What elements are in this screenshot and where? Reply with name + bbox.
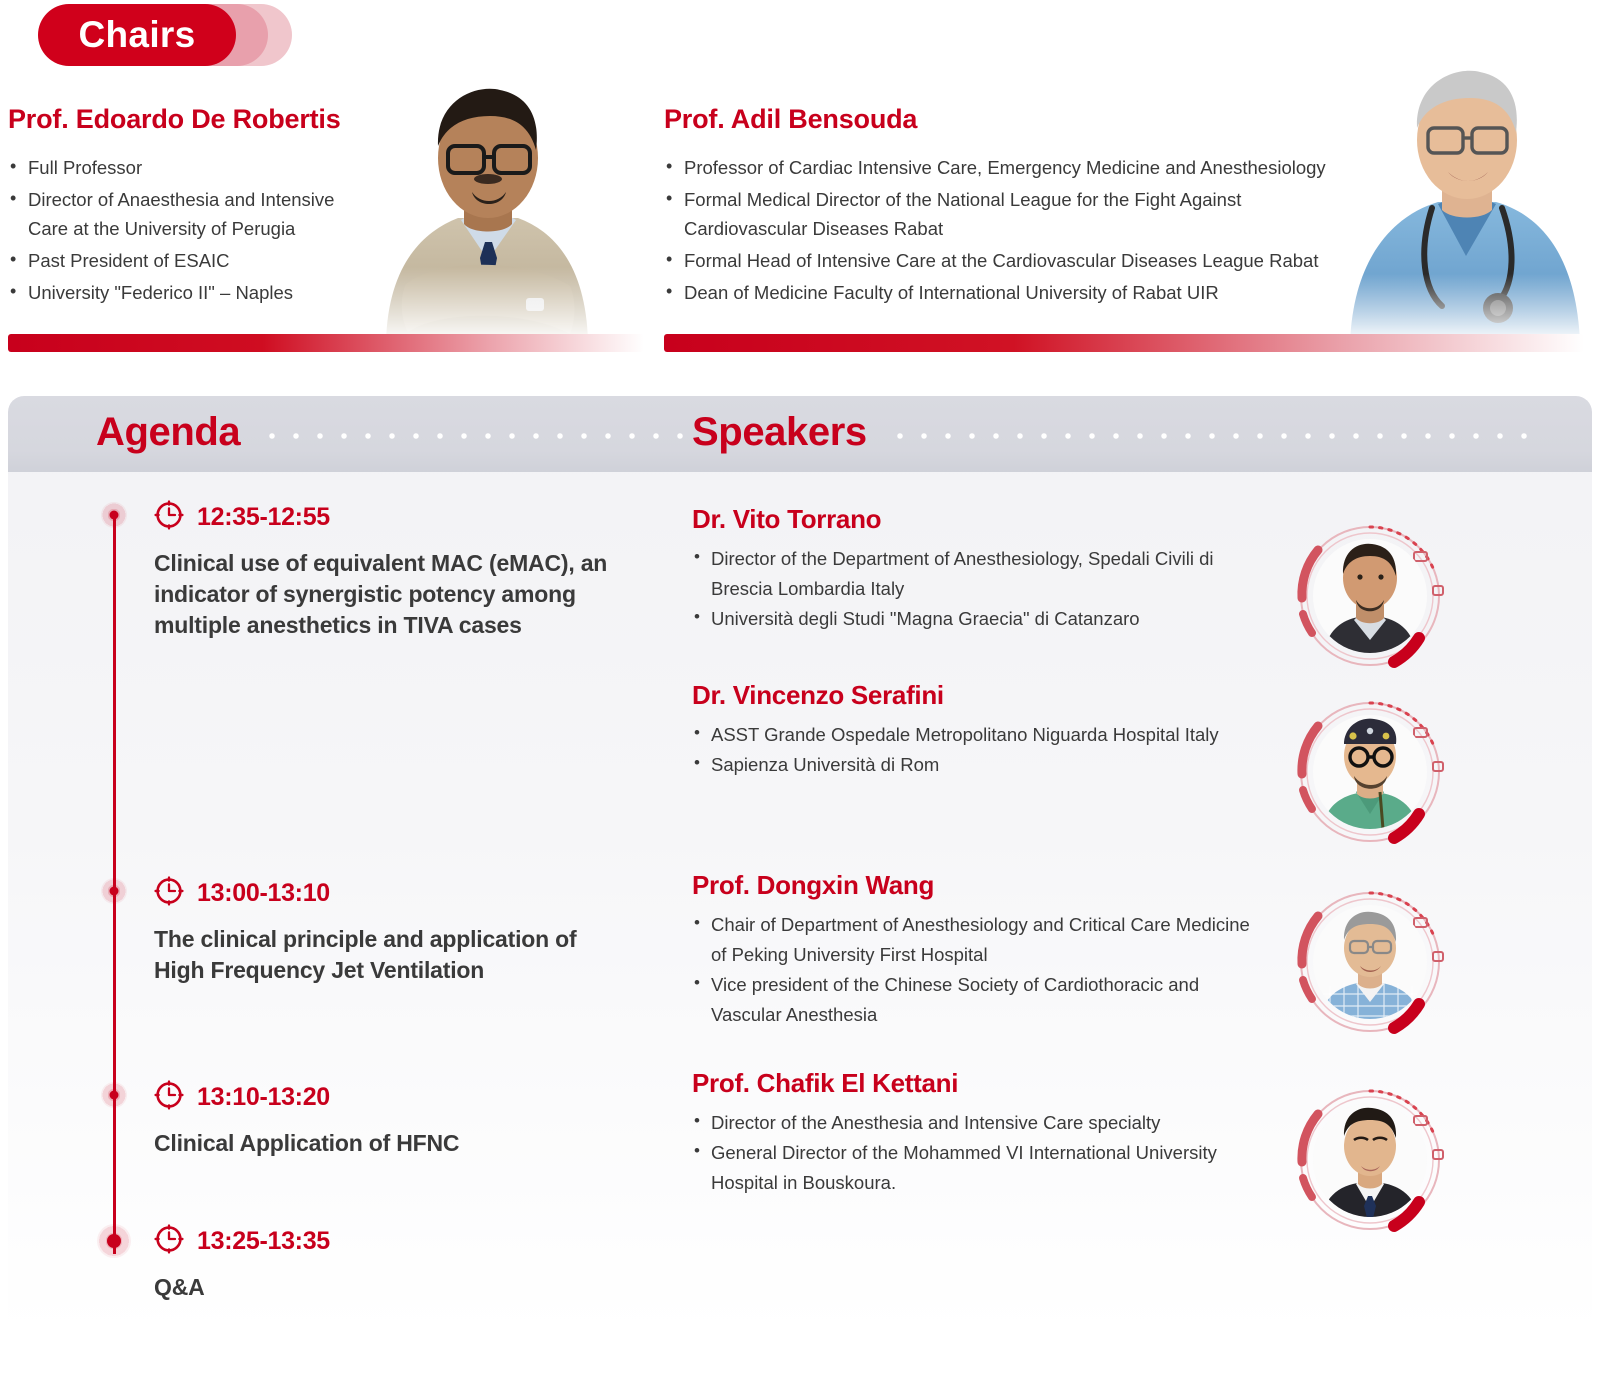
- avatar-speaker-0: [1290, 516, 1450, 676]
- agenda-speakers-panel: Agenda Speakers: [8, 396, 1592, 1336]
- timeline-node-2: [101, 1082, 127, 1108]
- speaker-bullet: Chair of Department of Anesthesiology an…: [692, 910, 1252, 970]
- agenda-title-2: Clinical Application of HFNC: [154, 1128, 624, 1159]
- chair-bullet: Formal Medical Director of the National …: [664, 185, 1364, 243]
- timeline-node-1: [101, 878, 127, 904]
- dotted-divider-speakers: [888, 433, 1538, 439]
- avatar-speaker-3: [1290, 1080, 1450, 1240]
- chair-bullet: Professor of Cardiac Intensive Care, Eme…: [664, 153, 1364, 182]
- chair-bullet: Formal Head of Intensive Care at the Car…: [664, 246, 1364, 275]
- speaker-bullet: Vice president of the Chinese Society of…: [692, 970, 1252, 1030]
- speaker-bullets-2: Chair of Department of Anesthesiology an…: [692, 910, 1252, 1030]
- speaker-name-0: Dr. Vito Torrano: [692, 504, 1252, 535]
- badge-main: Chairs: [38, 4, 236, 66]
- agenda-heading: Agenda: [96, 410, 240, 455]
- speaker-card-1[interactable]: Dr. Vincenzo Serafini ASST Grande Ospeda…: [692, 680, 1252, 780]
- portrait-chair-1: [1320, 32, 1600, 342]
- avatar-speaker-1: [1290, 692, 1450, 852]
- chair-bullets-1: Professor of Cardiac Intensive Care, Eme…: [664, 153, 1364, 307]
- agenda-time-row-1: 13:00-13:10: [154, 876, 624, 911]
- chair-name-1: Prof. Adil Bensouda: [664, 104, 1364, 135]
- clock-icon: [154, 1224, 184, 1259]
- speaker-bullet: General Director of the Mohammed VI Inte…: [692, 1138, 1252, 1198]
- chair-name-0: Prof. Edoardo De Robertis: [8, 104, 368, 135]
- speaker-card-3[interactable]: Prof. Chafik El Kettani Director of the …: [692, 1068, 1252, 1198]
- panel-header: Agenda Speakers: [8, 396, 1592, 472]
- speaker-bullet: Director of the Department of Anesthesio…: [692, 544, 1252, 604]
- speaker-bullets-3: Director of the Anesthesia and Intensive…: [692, 1108, 1252, 1198]
- chair-bullet: University "Federico II" – Naples: [8, 278, 368, 307]
- speakers-heading: Speakers: [692, 410, 867, 455]
- agenda-time-row-3: 13:25-13:35: [154, 1224, 624, 1259]
- agenda-item-1[interactable]: 13:00-13:10 The clinical principle and a…: [154, 876, 624, 986]
- speaker-bullet: Sapienza Università di Rom: [692, 750, 1252, 780]
- agenda-title-0: Clinical use of equivalent MAC (eMAC), a…: [154, 548, 624, 640]
- speaker-bullet: Director of the Anesthesia and Intensive…: [692, 1108, 1252, 1138]
- speaker-card-2[interactable]: Prof. Dongxin Wang Chair of Department o…: [692, 870, 1252, 1030]
- speaker-name-1: Dr. Vincenzo Serafini: [692, 680, 1252, 711]
- chair-bullet: Director of Anaesthesia and Intensive Ca…: [8, 185, 368, 243]
- speaker-name-2: Prof. Dongxin Wang: [692, 870, 1252, 901]
- speaker-card-0[interactable]: Dr. Vito Torrano Director of the Departm…: [692, 504, 1252, 634]
- chair-card-0: Prof. Edoardo De Robertis Full Professor…: [8, 104, 368, 310]
- speaker-name-3: Prof. Chafik El Kettani: [692, 1068, 1252, 1099]
- chair-card-1: Prof. Adil Bensouda Professor of Cardiac…: [664, 104, 1364, 310]
- clock-icon: [154, 500, 184, 535]
- clock-icon: [154, 1080, 184, 1115]
- chairs-badge: Chairs: [16, 4, 316, 66]
- speaker-bullet: Università degli Studi "Magna Graecia" d…: [692, 604, 1252, 634]
- portrait-chair-0: [330, 42, 630, 342]
- agenda-time-row-0: 12:35-12:55: [154, 500, 624, 535]
- chair-bullets-0: Full Professor Director of Anaesthesia a…: [8, 153, 368, 307]
- conference-agenda-page: Chairs Prof. Edoardo De Robertis Full Pr…: [0, 0, 1600, 1398]
- agenda-item-0[interactable]: 12:35-12:55 Clinical use of equivalent M…: [154, 500, 624, 640]
- chair-underline-1: [664, 334, 1584, 352]
- agenda-title-3: Q&A: [154, 1272, 624, 1303]
- avatar-speaker-2: [1290, 882, 1450, 1042]
- agenda-time-3: 13:25-13:35: [197, 1227, 330, 1256]
- speaker-bullet: ASST Grande Ospedale Metropolitano Nigua…: [692, 720, 1252, 750]
- agenda-time-0: 12:35-12:55: [197, 503, 330, 532]
- chairs-badge-label: Chairs: [79, 14, 196, 56]
- agenda-item-3[interactable]: 13:25-13:35 Q&A: [154, 1224, 624, 1303]
- agenda-time-1: 13:00-13:10: [197, 879, 330, 908]
- chair-bullet: Past President of ESAIC: [8, 246, 368, 275]
- agenda-item-2[interactable]: 13:10-13:20 Clinical Application of HFNC: [154, 1080, 624, 1159]
- timeline-node-3: [97, 1224, 131, 1258]
- agenda-time-row-2: 13:10-13:20: [154, 1080, 624, 1115]
- chair-bullet: Full Professor: [8, 153, 368, 182]
- speaker-bullets-0: Director of the Department of Anesthesio…: [692, 544, 1252, 634]
- dotted-divider-agenda: [260, 433, 692, 439]
- chair-bullet: Dean of Medicine Faculty of Internationa…: [664, 278, 1364, 307]
- agenda-title-1: The clinical principle and application o…: [154, 924, 624, 986]
- speaker-bullets-1: ASST Grande Ospedale Metropolitano Nigua…: [692, 720, 1252, 780]
- clock-icon: [154, 876, 184, 911]
- chair-underline-0: [8, 334, 644, 352]
- timeline-node-0: [101, 502, 127, 528]
- agenda-time-2: 13:10-13:20: [197, 1083, 330, 1112]
